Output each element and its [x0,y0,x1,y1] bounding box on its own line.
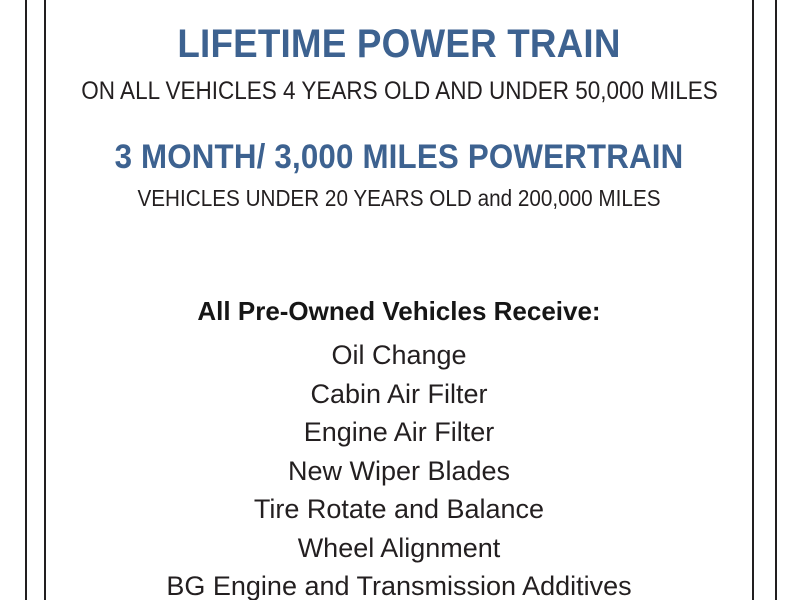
left-outer-rule [25,0,27,600]
service-item: Engine Air Filter [46,413,752,452]
service-item: Oil Change [46,336,752,375]
right-outer-rule [775,0,777,600]
three-month-powertrain-headline: 3 MONTH/ 3,000 MILES POWERTRAIN [74,140,724,174]
services-list: Oil Change Cabin Air Filter Engine Air F… [46,336,752,600]
services-heading: All Pre-Owned Vehicles Receive: [46,298,752,324]
service-item: Wheel Alignment [46,529,752,568]
lifetime-power-train-subline: ON ALL VEHICLES 4 YEARS OLD AND UNDER 50… [81,79,716,104]
service-item: Cabin Air Filter [46,375,752,414]
warranty-block-three-month-powertrain: 3 MONTH/ 3,000 MILES POWERTRAIN VEHICLES… [46,140,752,210]
three-month-powertrain-subline: VEHICLES UNDER 20 YEARS OLD and 200,000 … [81,187,716,210]
service-item: BG Engine and Transmission Additives [46,567,752,600]
service-item: Tire Rotate and Balance [46,490,752,529]
lifetime-power-train-headline: LIFETIME POWER TRAIN [74,24,724,64]
warranty-flyer: LIFETIME POWER TRAIN ON ALL VEHICLES 4 Y… [0,0,800,600]
service-item: New Wiper Blades [46,452,752,491]
services-section: All Pre-Owned Vehicles Receive: Oil Chan… [46,298,752,600]
right-inner-rule [752,0,754,600]
warranty-block-lifetime-power-train: LIFETIME POWER TRAIN ON ALL VEHICLES 4 Y… [46,24,752,104]
flyer-content: LIFETIME POWER TRAIN ON ALL VEHICLES 4 Y… [46,0,752,600]
